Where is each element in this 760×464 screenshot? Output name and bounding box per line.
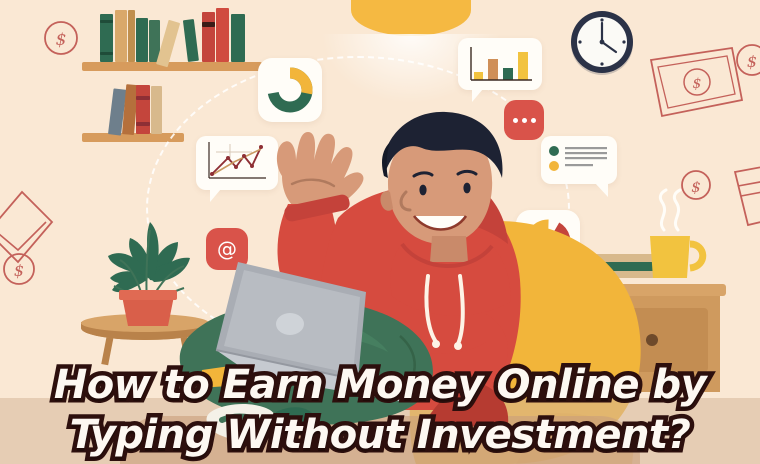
dollar-coin-doodle-right: $ (737, 45, 760, 75)
banknote-doodle: $ (651, 48, 742, 116)
bar-chart-icon (466, 44, 534, 84)
svg-text:$: $ (14, 261, 24, 280)
svg-text:$: $ (56, 30, 67, 50)
wall-clock (566, 6, 638, 83)
credit-card-doodle (735, 160, 760, 225)
page-title: How to Earn Money Online by Typing Witho… (0, 360, 760, 460)
svg-text:$: $ (747, 52, 757, 71)
dollar-coin-doodle-left: $ (4, 254, 34, 284)
dollar-coin-doodle-top-left: $ (45, 22, 77, 54)
hero-illustration: $ $ $ $ $ (0, 0, 760, 464)
title-line-2: Typing Without Investment? (6, 410, 754, 460)
dollar-coin-doodle-bottom-left (22, 300, 23, 301)
svg-text:$: $ (693, 76, 702, 92)
envelope-doodle (0, 192, 52, 262)
title-line-1: How to Earn Money Online by (6, 360, 754, 410)
message-list-bubble-tail (595, 183, 608, 197)
